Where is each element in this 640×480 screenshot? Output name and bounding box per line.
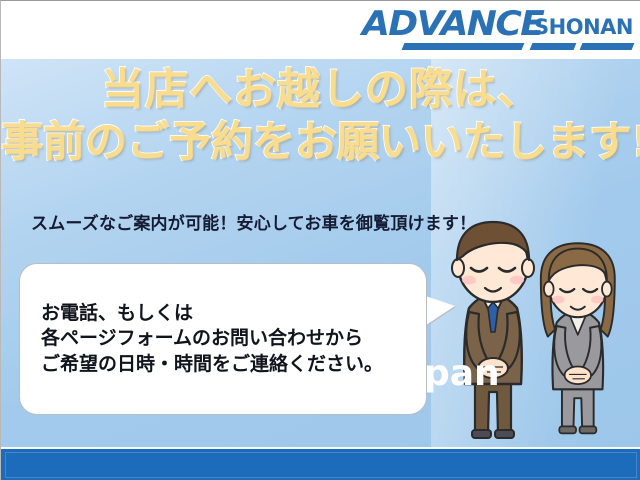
advance-shonan-logo: ADVANCE SHONAN: [362, 7, 633, 53]
speech-bubble: お電話、もしくは 各ページフォームのお問い合わせから ご希望の日時・時間をご連絡…: [19, 263, 427, 415]
logo-underline-bars: [403, 43, 633, 52]
bowing-businessman: [452, 222, 534, 438]
headline-block: 当店へお越しの際は、 事前のご予約をお願いいたします!: [1, 65, 640, 167]
advertisement-banner: ADVANCE SHONAN 当店へお越しの際は、 事前のご予約をお願いいたしま…: [0, 0, 640, 480]
speech-bubble-line-2: 各ページフォームのお問い合わせから: [41, 326, 411, 351]
subtitle-text: スムーズなご案内が可能！安心してお車を御覧頂けます！: [31, 209, 476, 234]
logo-secondary-text: SHONAN: [534, 17, 633, 38]
speech-bubble-text: お電話、もしくは 各ページフォームのお問い合わせから ご希望の日時・時間をご連絡…: [41, 301, 411, 377]
headline-line-2: 事前のご予約をお願いいたします!: [1, 117, 640, 167]
main-blue-panel: 当店へお越しの際は、 事前のご予約をお願いいたします! スムーズなご案内が可能！…: [1, 59, 640, 447]
two-bowing-business-people-illustration: [433, 212, 633, 447]
people-svg: [433, 212, 633, 447]
footer-bar: [1, 447, 640, 480]
speech-bubble-line-1: お電話、もしくは: [41, 301, 411, 326]
logo-primary-text: ADVANCE: [362, 7, 543, 41]
footer-inner-border: [5, 452, 637, 478]
banner-header: ADVANCE SHONAN: [1, 1, 640, 59]
headline-line-1: 当店へお越しの際は、: [1, 65, 640, 117]
bowing-businesswoman: [541, 243, 615, 433]
logo-wordmark: ADVANCE SHONAN: [362, 7, 633, 41]
speech-bubble-line-3: ご希望の日時・時間をご連絡ください。: [41, 352, 411, 377]
